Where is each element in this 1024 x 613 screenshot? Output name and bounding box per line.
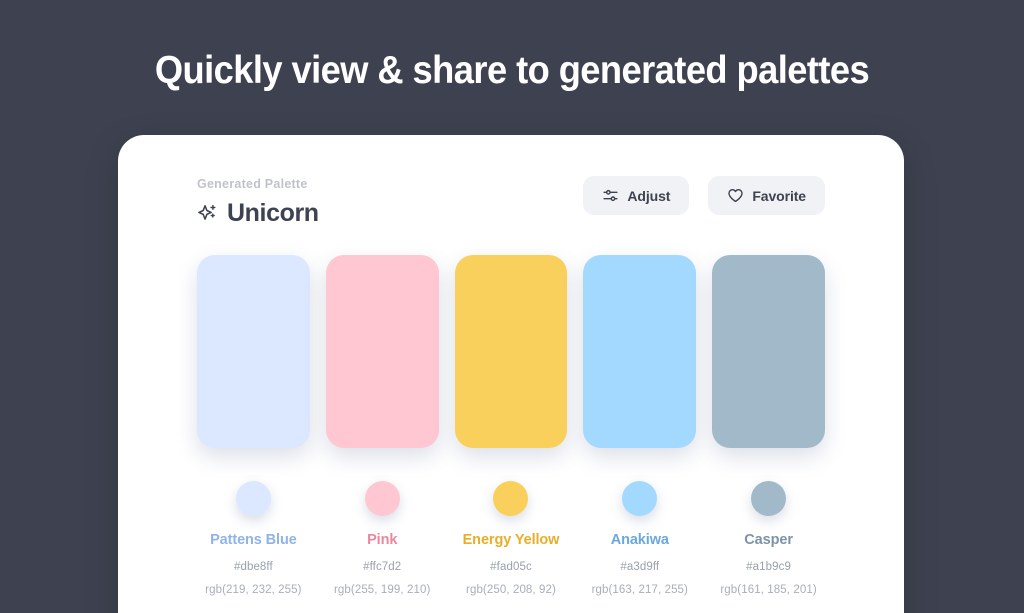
swatch-name: Pink [367, 532, 397, 548]
palette-title-row: Unicorn [197, 199, 319, 228]
swatch-column[interactable]: Pattens Blue #dbe8ff rgb(219, 232, 255) [197, 255, 310, 596]
card-header: Generated Palette Unicorn [197, 176, 825, 228]
swatch-rgb-value[interactable]: rgb(163, 217, 255) [592, 584, 688, 596]
swatch-name: Casper [744, 532, 793, 548]
adjust-button-label: Adjust [627, 188, 670, 204]
swatch-column[interactable]: Pink #ffc7d2 rgb(255, 199, 210) [326, 255, 439, 596]
swatch-column[interactable]: Casper #a1b9c9 rgb(161, 185, 201) [712, 255, 825, 596]
page-headline: Quickly view & share to generated palett… [36, 49, 988, 93]
swatch-row: Pattens Blue #dbe8ff rgb(219, 232, 255) … [197, 255, 825, 596]
palette-card: Generated Palette Unicorn [118, 135, 904, 613]
screen: Quickly view & share to generated palett… [0, 0, 1024, 613]
favorite-button-label: Favorite [752, 188, 806, 204]
adjust-button[interactable]: Adjust [583, 176, 689, 215]
palette-identity: Generated Palette Unicorn [197, 176, 319, 228]
swatch-hex-value[interactable]: #dbe8ff [234, 561, 273, 573]
sparkles-icon [197, 203, 218, 224]
swatch-bar[interactable] [326, 255, 439, 448]
swatch-name: Energy Yellow [463, 532, 560, 548]
swatch-dot [493, 481, 528, 516]
swatch-dot [365, 481, 400, 516]
swatch-name: Pattens Blue [210, 532, 297, 548]
swatch-dot [751, 481, 786, 516]
swatch-column[interactable]: Anakiwa #a3d9ff rgb(163, 217, 255) [583, 255, 696, 596]
swatch-hex-value[interactable]: #ffc7d2 [363, 561, 401, 573]
swatch-hex-value[interactable]: #a3d9ff [620, 561, 659, 573]
swatch-hex-value[interactable]: #fad05c [490, 561, 532, 573]
card-action-buttons: Adjust Favorite [583, 176, 825, 215]
swatch-rgb-value[interactable]: rgb(161, 185, 201) [720, 584, 816, 596]
swatch-rgb-value[interactable]: rgb(219, 232, 255) [205, 584, 301, 596]
heart-icon [727, 187, 744, 204]
sliders-icon [602, 187, 619, 204]
palette-title: Unicorn [227, 199, 319, 228]
swatch-bar[interactable] [583, 255, 696, 448]
palette-eyebrow-label: Generated Palette [197, 177, 319, 191]
swatch-column[interactable]: Energy Yellow #fad05c rgb(250, 208, 92) [455, 255, 568, 596]
swatch-bar[interactable] [197, 255, 310, 448]
swatch-rgb-value[interactable]: rgb(255, 199, 210) [334, 584, 430, 596]
swatch-bar[interactable] [712, 255, 825, 448]
favorite-button[interactable]: Favorite [708, 176, 825, 215]
swatch-dot [622, 481, 657, 516]
swatch-rgb-value[interactable]: rgb(250, 208, 92) [466, 584, 556, 596]
swatch-bar[interactable] [455, 255, 568, 448]
swatch-dot [236, 481, 271, 516]
swatch-name: Anakiwa [611, 532, 669, 548]
swatch-hex-value[interactable]: #a1b9c9 [746, 561, 791, 573]
